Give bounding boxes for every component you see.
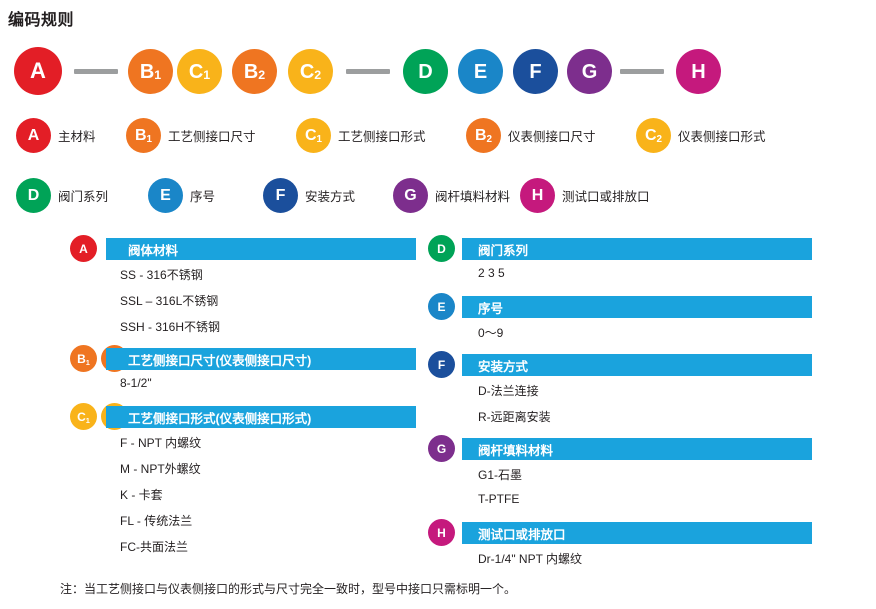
table-row: M - NPT外螺纹 xyxy=(120,460,201,477)
legend-badge-g[interactable]: G xyxy=(393,178,428,213)
section-header: 工艺侧接口尺寸(仪表侧接口尺寸) xyxy=(106,348,416,370)
table-cell-value: 0〜9 xyxy=(478,326,503,340)
badge-subscript: 1 xyxy=(154,69,161,81)
legend-badge-c2[interactable]: C2 xyxy=(636,118,671,153)
table-cell-value: SSL – 316L不锈钢 xyxy=(120,294,218,308)
badge-label: B xyxy=(77,353,86,365)
badge-subscript: 2 xyxy=(487,135,493,145)
legend-item-label: 工艺侧接口形式 xyxy=(338,126,426,145)
section-badge-d[interactable]: D xyxy=(428,235,455,262)
code-badge-f[interactable]: F xyxy=(513,49,558,94)
table-row: SSH - 316H不锈钢 xyxy=(120,318,220,335)
badge-label: G xyxy=(437,443,446,455)
badge-label: E xyxy=(160,188,171,204)
badge-subscript: 1 xyxy=(147,135,153,145)
section-header: 序号 xyxy=(462,296,812,318)
legend-item-label: 阀杆填料材料 xyxy=(435,186,510,205)
table-cell-value: FL - 传统法兰 xyxy=(120,514,192,528)
badge-subscript: 1 xyxy=(86,359,90,366)
separator-dash-2 xyxy=(346,69,390,74)
table-cell-value: SSH - 316H不锈钢 xyxy=(120,320,220,334)
legend-item-label: 安装方式 xyxy=(305,186,355,205)
badge-label: G xyxy=(582,62,598,82)
badge-label: G xyxy=(404,188,416,204)
table-cell-value: FC-共面法兰 xyxy=(120,540,188,554)
separator-dash-1 xyxy=(74,69,118,74)
table-cell-value: 8-1/2" xyxy=(120,376,152,390)
section-header: 工艺侧接口形式(仪表侧接口形式) xyxy=(106,406,416,428)
legend-item-e: E序号 xyxy=(148,178,215,213)
section-header-label: 安装方式 xyxy=(478,356,528,375)
legend-item-h: H测试口或排放口 xyxy=(520,178,650,213)
code-badge-c2[interactable]: C2 xyxy=(288,49,333,94)
code-badge-c1[interactable]: C1 xyxy=(177,49,222,94)
section-badges: H xyxy=(428,519,459,546)
table-row: G1-石墨 xyxy=(478,466,522,483)
section-header: 阀体材料 xyxy=(106,238,416,260)
badge-label: D xyxy=(28,188,40,204)
badge-label: D xyxy=(418,62,432,82)
code-sequence-diagram: AB1C1B2C2DEFGH xyxy=(0,40,876,102)
legend-item-label: 工艺侧接口尺寸 xyxy=(168,126,256,145)
legend-badge-h[interactable]: H xyxy=(520,178,555,213)
badge-label: A xyxy=(79,243,88,255)
table-cell-value: 2 3 5 xyxy=(478,266,505,280)
section-header: 阀杆填料材料 xyxy=(462,438,812,460)
table-row: 2 3 5 xyxy=(478,266,505,280)
section-badge-f[interactable]: F xyxy=(428,351,455,378)
table-cell-value: D-法兰连接 xyxy=(478,384,539,398)
legend-badge-a[interactable]: A xyxy=(16,118,51,153)
table-cell-value: Dr-1/4" NPT 内螺纹 xyxy=(478,552,582,566)
badge-label: H xyxy=(437,527,446,539)
section-badge-b1[interactable]: B1 xyxy=(70,345,97,372)
code-badge-b1[interactable]: B1 xyxy=(128,49,173,94)
section-header-label: 阀门系列 xyxy=(478,240,528,259)
section-header: 阀门系列 xyxy=(462,238,812,260)
badge-subscript: 2 xyxy=(314,69,321,81)
code-badge-b2[interactable]: B2 xyxy=(232,49,277,94)
legend-item-label: 仪表侧接口尺寸 xyxy=(508,126,596,145)
badge-subscript: 1 xyxy=(317,135,323,145)
table-cell-value: SS - 316不锈钢 xyxy=(120,268,203,282)
legend-badge-d[interactable]: D xyxy=(16,178,51,213)
badge-subscript: 1 xyxy=(86,417,90,424)
code-badge-h[interactable]: H xyxy=(676,49,721,94)
section-badges: A xyxy=(70,235,101,262)
section-badges: D xyxy=(428,235,459,262)
badge-label: C xyxy=(305,128,317,144)
table-cell-value: M - NPT外螺纹 xyxy=(120,462,201,476)
badge-label: B xyxy=(475,128,487,144)
badge-label: A xyxy=(30,60,46,82)
section-header-label: 工艺侧接口尺寸(仪表侧接口尺寸) xyxy=(128,350,311,369)
section-header-label: 序号 xyxy=(478,298,503,317)
section-badge-a[interactable]: A xyxy=(70,235,97,262)
legend-badge-b2[interactable]: B2 xyxy=(466,118,501,153)
code-definition-table: A阀体材料SS - 316不锈钢SSL – 316L不锈钢SSH - 316H不… xyxy=(8,238,868,568)
separator-dash-3 xyxy=(620,69,664,74)
table-row: K - 卡套 xyxy=(120,486,163,503)
table-row: F - NPT 内螺纹 xyxy=(120,434,201,451)
badge-label: B xyxy=(140,62,154,82)
section-badges: G xyxy=(428,435,459,462)
legend-item-label: 测试口或排放口 xyxy=(562,186,650,205)
legend-badge-b1[interactable]: B1 xyxy=(126,118,161,153)
legend-item-label: 阀门系列 xyxy=(58,186,108,205)
section-header-label: 测试口或排放口 xyxy=(478,524,566,543)
table-row: 8-1/2" xyxy=(120,376,152,390)
badge-label: C xyxy=(645,128,657,144)
badge-label: H xyxy=(691,62,705,82)
section-header-label: 阀杆填料材料 xyxy=(478,440,553,459)
table-cell-value: F - NPT 内螺纹 xyxy=(120,436,201,450)
legend-badge-e[interactable]: E xyxy=(148,178,183,213)
table-row: T-PTFE xyxy=(478,492,519,506)
page-title: 编码规则 xyxy=(8,6,74,30)
legend-badge-c1[interactable]: C1 xyxy=(296,118,331,153)
table-cell-value: R-远距离安装 xyxy=(478,410,551,424)
legend-item-b2: B2仪表侧接口尺寸 xyxy=(466,118,596,153)
badge-subscript: 2 xyxy=(258,69,265,81)
legend-item-d: D阀门系列 xyxy=(16,178,108,213)
badge-label: F xyxy=(276,188,286,204)
badge-label: C xyxy=(77,411,86,423)
badge-label: F xyxy=(438,359,445,371)
badge-label: C xyxy=(300,62,314,82)
section-header-label: 阀体材料 xyxy=(128,240,178,259)
section-badge-c1[interactable]: C1 xyxy=(70,403,97,430)
table-row: FC-共面法兰 xyxy=(120,538,188,555)
code-badge-e[interactable]: E xyxy=(458,49,503,94)
legend-item-label: 主材料 xyxy=(58,126,96,145)
badge-label: H xyxy=(532,188,544,204)
legend-item-label: 仪表侧接口形式 xyxy=(678,126,766,145)
section-badges: E xyxy=(428,293,459,320)
badge-subscript: 1 xyxy=(203,69,210,81)
legend-item-c2: C2仪表侧接口形式 xyxy=(636,118,766,153)
table-cell-value: T-PTFE xyxy=(478,492,519,506)
legend-item-f: F安装方式 xyxy=(263,178,355,213)
legend-item-c1: C1工艺侧接口形式 xyxy=(296,118,426,153)
badge-label: A xyxy=(28,128,40,144)
legend-badge-f[interactable]: F xyxy=(263,178,298,213)
badge-subscript: 2 xyxy=(657,135,663,145)
code-badge-d[interactable]: D xyxy=(403,49,448,94)
table-row: D-法兰连接 xyxy=(478,382,539,399)
table-row: FL - 传统法兰 xyxy=(120,512,192,529)
badge-label: C xyxy=(189,62,203,82)
badge-label: F xyxy=(529,62,541,82)
section-header-label: 工艺侧接口形式(仪表侧接口形式) xyxy=(128,408,311,427)
legend-item-label: 序号 xyxy=(190,186,215,205)
table-row: SSL – 316L不锈钢 xyxy=(120,292,218,309)
table-row: 0〜9 xyxy=(478,324,503,341)
badge-label: B xyxy=(135,128,147,144)
legend-item-a: A主材料 xyxy=(16,118,96,153)
section-badge-g[interactable]: G xyxy=(428,435,455,462)
legend-item-g: G阀杆填料材料 xyxy=(393,178,510,213)
table-row: R-远距离安装 xyxy=(478,408,551,425)
legend-item-b1: B1工艺侧接口尺寸 xyxy=(126,118,256,153)
table-row: Dr-1/4" NPT 内螺纹 xyxy=(478,550,582,567)
footnote: 注：当工艺侧接口与仪表侧接口的形式与尺寸完全一致时，型号中接口只需标明一个。 xyxy=(60,580,516,597)
table-row: SS - 316不锈钢 xyxy=(120,266,203,283)
badge-label: E xyxy=(437,301,445,313)
code-badge-g[interactable]: G xyxy=(567,49,612,94)
section-badge-h[interactable]: H xyxy=(428,519,455,546)
badge-label: B xyxy=(244,62,258,82)
badge-label: E xyxy=(474,62,487,82)
code-badge-a[interactable]: A xyxy=(14,47,62,95)
badge-label: D xyxy=(437,243,446,255)
section-header: 安装方式 xyxy=(462,354,812,376)
section-badges: F xyxy=(428,351,459,378)
section-badge-e[interactable]: E xyxy=(428,293,455,320)
table-cell-value: G1-石墨 xyxy=(478,468,522,482)
table-cell-value: K - 卡套 xyxy=(120,488,163,502)
section-header: 测试口或排放口 xyxy=(462,522,812,544)
